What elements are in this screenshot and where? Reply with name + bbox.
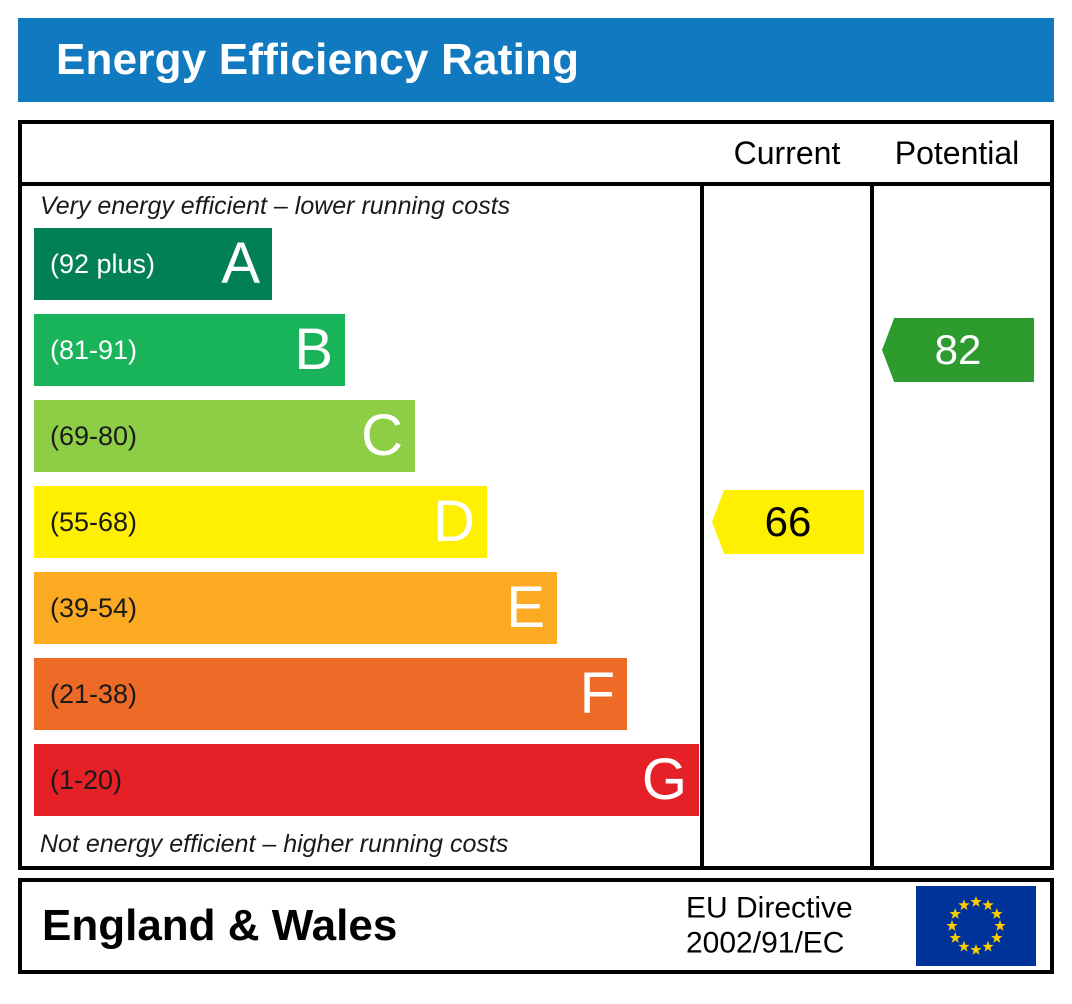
rating-arrow-current: 66 (712, 490, 864, 554)
band-letter-label: A (221, 235, 260, 293)
band-range-label: (39-54) (50, 593, 137, 624)
rating-value: 82 (935, 326, 982, 374)
column-divider-potential (870, 186, 874, 870)
rating-bands: (92 plus)A(81-91)B(69-80)C(55-68)D(39-54… (22, 228, 700, 828)
band-letter-label: E (506, 579, 545, 637)
header-bar: Energy Efficiency Rating (18, 18, 1054, 102)
column-divider-current (700, 186, 704, 870)
caption-bottom: Not energy efficient – higher running co… (40, 830, 508, 859)
rating-band-b: (81-91)B (34, 314, 345, 386)
rating-band-e: (39-54)E (34, 572, 557, 644)
column-header-current: Current (702, 124, 872, 182)
band-letter-label: B (294, 321, 333, 379)
energy-efficiency-certificate: Energy Efficiency Rating Current Potenti… (0, 0, 1072, 1004)
band-letter-label: D (433, 493, 475, 551)
rating-band-f: (21-38)F (34, 658, 627, 730)
band-range-label: (92 plus) (50, 249, 155, 280)
eu-flag-stars (916, 886, 1036, 966)
band-letter-label: F (580, 665, 615, 723)
rating-arrow-potential: 82 (882, 318, 1034, 382)
eu-flag-icon (916, 886, 1036, 966)
caption-top: Very energy efficient – lower running co… (40, 192, 510, 221)
band-range-label: (81-91) (50, 335, 137, 366)
rating-band-a: (92 plus)A (34, 228, 272, 300)
footer-directive-label: EU Directive 2002/91/EC (686, 892, 853, 961)
footer-directive-line1: EU Directive (686, 892, 853, 927)
rating-band-c: (69-80)C (34, 400, 415, 472)
rating-chart-frame: Current Potential Very energy efficient … (18, 120, 1054, 870)
rating-band-d: (55-68)D (34, 486, 487, 558)
band-letter-label: G (642, 751, 687, 809)
rating-value: 66 (765, 498, 812, 546)
band-letter-label: C (361, 407, 403, 465)
rating-band-g: (1-20)G (34, 744, 699, 816)
footer-region-label: England & Wales (42, 901, 397, 951)
band-range-label: (21-38) (50, 679, 137, 710)
band-range-label: (55-68) (50, 507, 137, 538)
footer-directive-line2: 2002/91/EC (686, 926, 853, 961)
column-header-potential: Potential (872, 124, 1042, 182)
column-header-row: Current Potential (22, 124, 1050, 186)
band-range-label: (69-80) (50, 421, 137, 452)
footer-bar: England & Wales EU Directive 2002/91/EC (18, 878, 1054, 974)
page-title: Energy Efficiency Rating (56, 35, 579, 85)
band-range-label: (1-20) (50, 765, 122, 796)
